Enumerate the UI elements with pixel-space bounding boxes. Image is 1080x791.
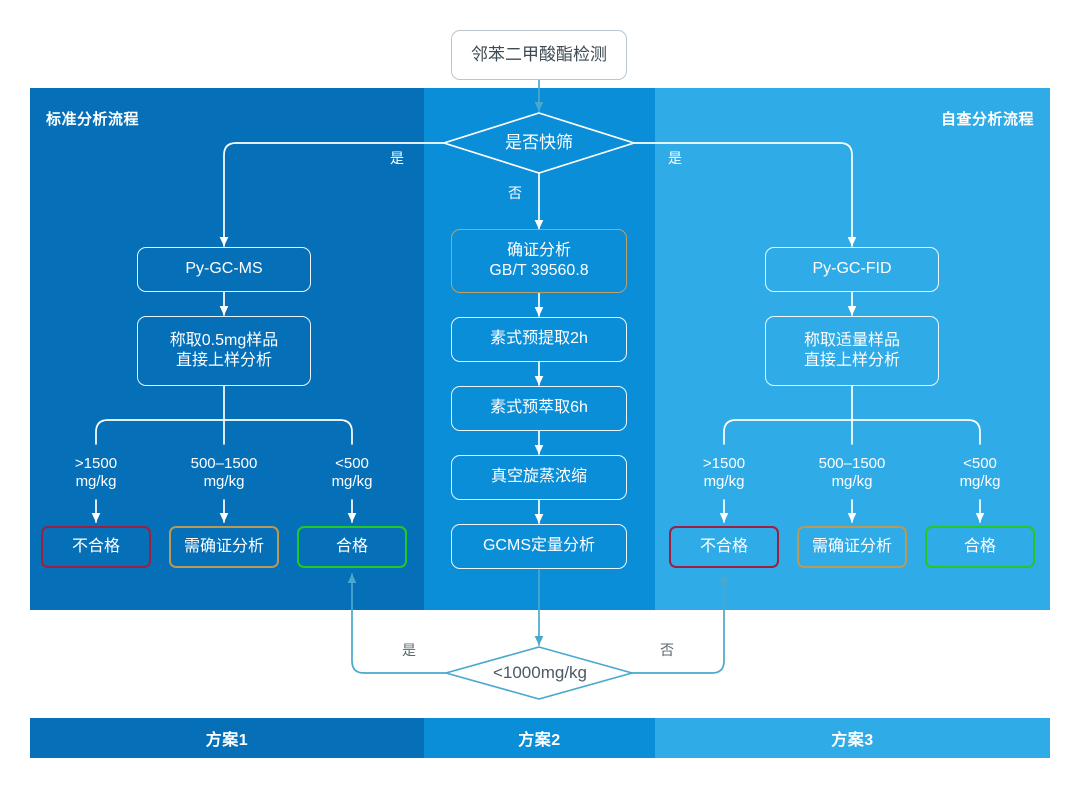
node-prep-selfcheck[interactable]: 称取适量样品 直接上样分析 xyxy=(765,316,939,386)
node-vacuum-concentration[interactable]: 真空旋蒸浓缩 xyxy=(451,455,627,500)
edge-label-yes-right: 是 xyxy=(668,148,682,168)
node-gcms-quantification[interactable]: GCMS定量分析 xyxy=(451,524,627,569)
node-decision-rapid-screening[interactable]: 是否快筛 xyxy=(454,126,624,160)
node-soxhlet-extraction-6h[interactable]: 素式预萃取6h xyxy=(451,386,627,431)
node-instrument-py-gc-fid[interactable]: Py-GC-FID xyxy=(765,247,939,292)
range-label-low-left: <500 mg/kg xyxy=(297,455,407,492)
range-label-mid-right: 500–1500 mg/kg xyxy=(797,455,907,492)
range-label-high-right: >1500 mg/kg xyxy=(669,455,779,492)
footer-plan-2[interactable]: 方案2 xyxy=(424,718,655,758)
footer-plan-1[interactable]: 方案1 xyxy=(30,718,424,758)
node-title-test[interactable]: 邻苯二甲酸酯检测 xyxy=(451,30,627,80)
result-pass-left[interactable]: 合格 xyxy=(297,526,407,568)
edge-label-bottom-no: 否 xyxy=(660,640,674,660)
panel-title-selfcheck: 自查分析流程 xyxy=(941,108,1034,129)
result-fail-left[interactable]: 不合格 xyxy=(41,526,151,568)
result-fail-right[interactable]: 不合格 xyxy=(669,526,779,568)
result-pass-right[interactable]: 合格 xyxy=(925,526,1035,568)
range-label-low-right: <500 mg/kg xyxy=(925,455,1035,492)
node-instrument-py-gc-ms[interactable]: Py-GC-MS xyxy=(137,247,311,292)
node-decision-threshold-1000[interactable]: <1000mg/kg xyxy=(455,655,625,691)
node-confirmation-standard[interactable]: 确证分析 GB/T 39560.8 xyxy=(451,229,627,293)
node-prep-standard[interactable]: 称取0.5mg样品 直接上样分析 xyxy=(137,316,311,386)
edge-label-yes-left: 是 xyxy=(390,148,404,168)
result-needs-confirmation-left[interactable]: 需确证分析 xyxy=(169,526,279,568)
result-needs-confirmation-right[interactable]: 需确证分析 xyxy=(797,526,907,568)
node-soxhlet-extraction-2h[interactable]: 素式预提取2h xyxy=(451,317,627,362)
footer-plan-3[interactable]: 方案3 xyxy=(655,718,1050,758)
edge-label-no-down: 否 xyxy=(508,183,522,203)
panel-title-standard: 标准分析流程 xyxy=(46,108,139,129)
range-label-mid-left: 500–1500 mg/kg xyxy=(169,455,279,492)
edge-label-bottom-yes: 是 xyxy=(402,640,416,660)
range-label-high-left: >1500 mg/kg xyxy=(41,455,151,492)
flowchart-canvas: 邻苯二甲酸酯检测 是否快筛 标准分析流程 自查分析流程 是 是 否 Py-GC-… xyxy=(0,0,1080,791)
